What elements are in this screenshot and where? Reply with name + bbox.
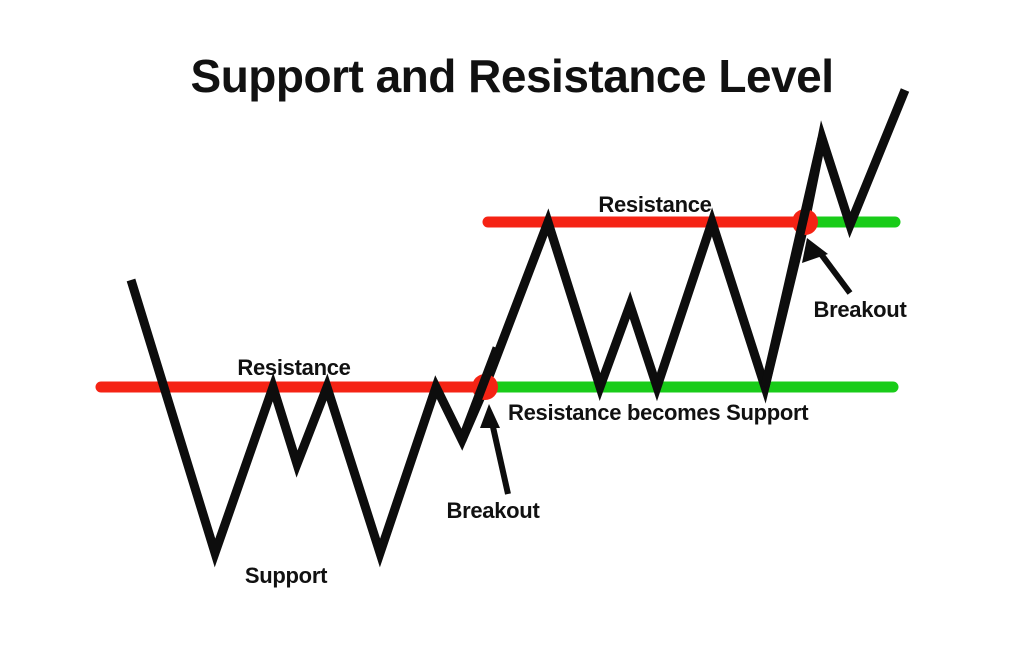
label-breakout-lower: Breakout (447, 498, 541, 523)
label-resistance-upper: Resistance (598, 192, 711, 217)
chart-title: Support and Resistance Level (191, 50, 834, 102)
label-support-lower: Support (245, 563, 328, 588)
label-breakout-upper: Breakout (814, 297, 908, 322)
chart-container: Support and Resistance Level Resistance … (0, 0, 1024, 640)
support-resistance-chart: Support and Resistance Level Resistance … (0, 0, 1024, 640)
label-resistance-becomes-support: Resistance becomes Support (508, 400, 809, 425)
label-resistance-lower: Resistance (237, 355, 350, 380)
